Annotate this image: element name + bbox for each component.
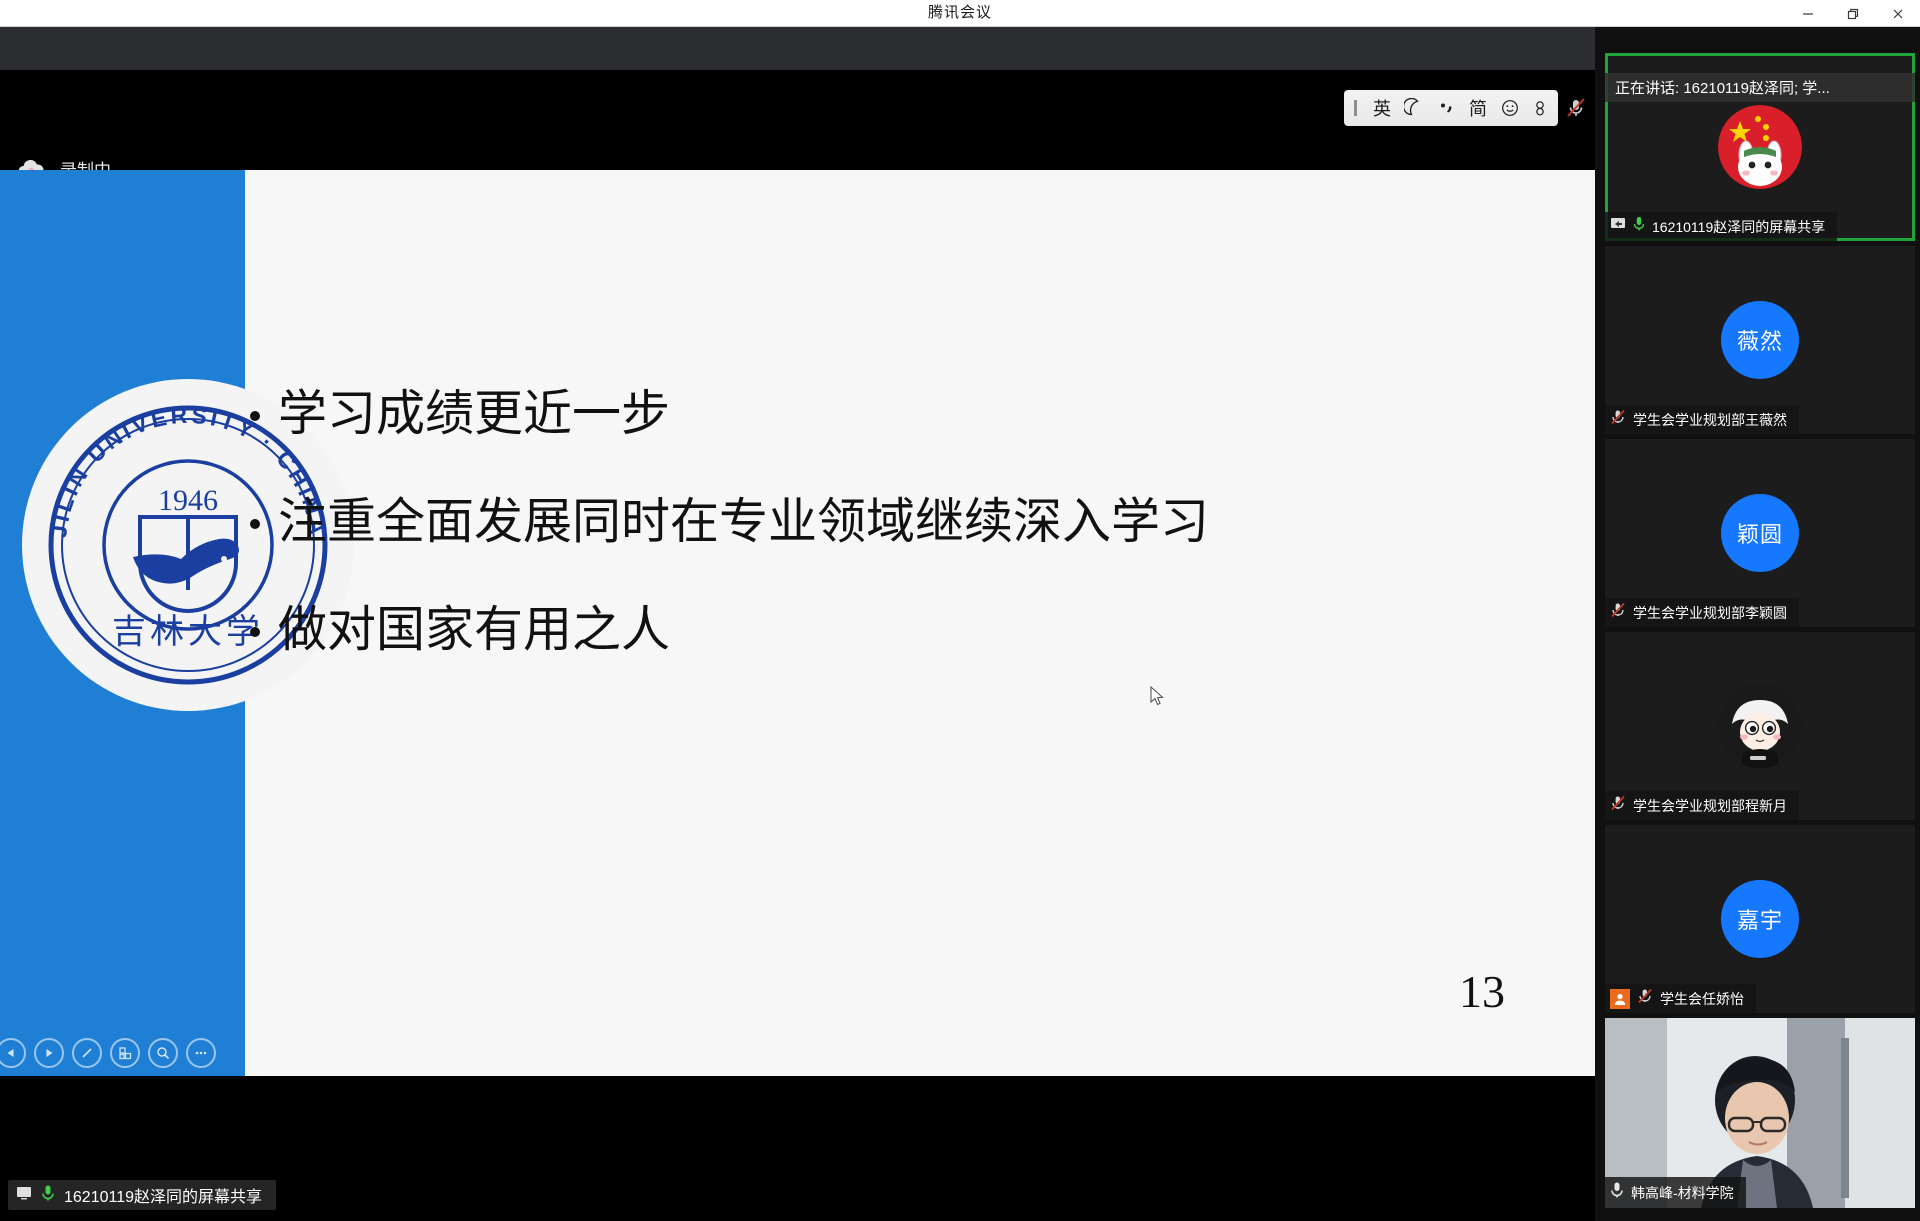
minimize-button[interactable] xyxy=(1785,0,1830,27)
bullet-text: 学习成绩更近一步 xyxy=(278,385,670,445)
ime-drag-handle[interactable] xyxy=(1344,90,1366,126)
ime-language-mode[interactable]: 英 xyxy=(1366,90,1398,126)
bullet-dot-icon xyxy=(250,519,260,529)
share-status-tag: 16210119赵泽同的屏幕共享 xyxy=(8,1180,276,1210)
participant-name: 学生会学业规划部王薇然 xyxy=(1633,410,1787,430)
ime-moon-icon[interactable] xyxy=(1398,90,1430,126)
screen-share-icon xyxy=(16,1185,32,1206)
avatar: 颖圆 xyxy=(1721,494,1799,572)
ppt-pen-button[interactable] xyxy=(72,1038,102,1068)
mic-muted-icon xyxy=(1610,602,1626,623)
title-bar: 腾讯会议 xyxy=(0,0,1920,27)
participant-tile-liyingyuan[interactable]: 颖圆 学生会学业规划部李颖圆 xyxy=(1605,439,1915,627)
avatar: 嘉宇 xyxy=(1721,880,1799,958)
ime-settings-icon[interactable] xyxy=(1526,90,1558,126)
presentation-slide: JILIN UNIVERSITY · CHINA 1946 吉林大学 xyxy=(0,170,1595,1076)
participant-name-bar: 16210119赵泽同的屏幕共享 xyxy=(1605,212,1837,241)
mic-muted-icon[interactable] xyxy=(1556,88,1596,128)
share-status-label: 16210119赵泽同的屏幕共享 xyxy=(64,1183,262,1207)
shared-screen-area[interactable]: JILIN UNIVERSITY · CHINA 1946 吉林大学 xyxy=(0,170,1595,1076)
list-item: 注重全面发展同时在专业领域继续深入学习 xyxy=(250,493,1260,553)
bullet-text: 做对国家有用之人 xyxy=(278,601,670,661)
mic-on-icon xyxy=(1610,1181,1624,1204)
mic-on-icon xyxy=(41,1184,55,1207)
participant-name: 学生会学业规划部程新月 xyxy=(1633,796,1787,816)
participant-tile-hangaofeng[interactable]: 韩高峰-材料学院 xyxy=(1605,1018,1915,1208)
ppt-control-bar[interactable] xyxy=(0,1038,216,1068)
speaking-banner: 正在讲话: 16210119赵泽同; 学... xyxy=(1605,73,1915,102)
close-button[interactable] xyxy=(1875,0,1920,27)
ppt-slides-button[interactable] xyxy=(110,1038,140,1068)
bullet-dot-icon xyxy=(250,627,260,637)
participant-name: 16210119赵泽同的屏幕共享 xyxy=(1652,217,1825,237)
host-badge-icon xyxy=(1610,989,1630,1009)
list-item: 做对国家有用之人 xyxy=(250,601,1260,661)
participant-name: 学生会任娇怡 xyxy=(1660,989,1744,1009)
window-controls xyxy=(1785,0,1920,27)
list-item: 学习成绩更近一步 xyxy=(250,385,1260,445)
participant-tile-screenshare[interactable]: 正在讲话: 16210119赵泽同; 学... xyxy=(1605,53,1915,241)
ppt-next-button[interactable] xyxy=(34,1038,64,1068)
tencent-meeting-window: 腾讯会议 xyxy=(0,0,1920,1221)
ppt-zoom-button[interactable] xyxy=(148,1038,178,1068)
mic-muted-icon xyxy=(1637,988,1653,1009)
slide-bullet-list: 学习成绩更近一步 注重全面发展同时在专业领域继续深入学习 做对国家有用之人 xyxy=(250,385,1260,708)
restore-button[interactable] xyxy=(1830,0,1875,27)
participant-name-bar: 学生会学业规划部程新月 xyxy=(1605,791,1799,820)
participant-name-bar: 韩高峰-材料学院 xyxy=(1605,1177,1746,1208)
ime-punctuation-icon[interactable] xyxy=(1430,90,1462,126)
participant-name-bar: 学生会学业规划部王薇然 xyxy=(1605,405,1799,434)
mouse-cursor xyxy=(1150,686,1166,713)
avatar xyxy=(1718,105,1802,189)
participant-tile-renjiaoyi[interactable]: 嘉宇 学生会任娇怡 xyxy=(1605,825,1915,1013)
participant-name-bar: 学生会学业规划部李颖圆 xyxy=(1605,598,1799,627)
avatar xyxy=(1718,684,1802,768)
window-title: 腾讯会议 xyxy=(0,0,1920,27)
mic-muted-icon xyxy=(1610,409,1626,430)
slide-page-number: 13 xyxy=(1459,965,1505,1018)
screen-share-icon xyxy=(1610,217,1626,236)
participant-tile-wangweiran[interactable]: 薇然 学生会学业规划部王薇然 xyxy=(1605,246,1915,434)
meeting-toolbar-area xyxy=(0,27,1595,70)
svg-text:吉林大学: 吉林大学 xyxy=(112,613,264,651)
svg-text:1946: 1946 xyxy=(158,484,218,517)
ime-simplified-mode[interactable]: 简 xyxy=(1462,90,1494,126)
participant-name: 学生会学业规划部李颖圆 xyxy=(1633,603,1787,623)
participant-name: 韩高峰-材料学院 xyxy=(1631,1183,1734,1203)
ime-emoji-icon[interactable] xyxy=(1494,90,1526,126)
bullet-dot-icon xyxy=(250,411,260,421)
mic-on-icon xyxy=(1633,216,1645,237)
ppt-prev-button[interactable] xyxy=(0,1038,26,1068)
participant-rail[interactable]: 正在讲话: 16210119赵泽同; 学... xyxy=(1595,27,1920,1221)
participant-tile-chengxinyue[interactable]: 学生会学业规划部程新月 xyxy=(1605,632,1915,820)
avatar: 薇然 xyxy=(1721,301,1799,379)
ime-toolbar[interactable]: 英 简 xyxy=(1344,90,1558,126)
ppt-more-button[interactable] xyxy=(186,1038,216,1068)
bullet-text: 注重全面发展同时在专业领域继续深入学习 xyxy=(278,493,1209,553)
mic-muted-icon xyxy=(1610,795,1626,816)
participant-name-bar: 学生会任娇怡 xyxy=(1605,984,1756,1013)
